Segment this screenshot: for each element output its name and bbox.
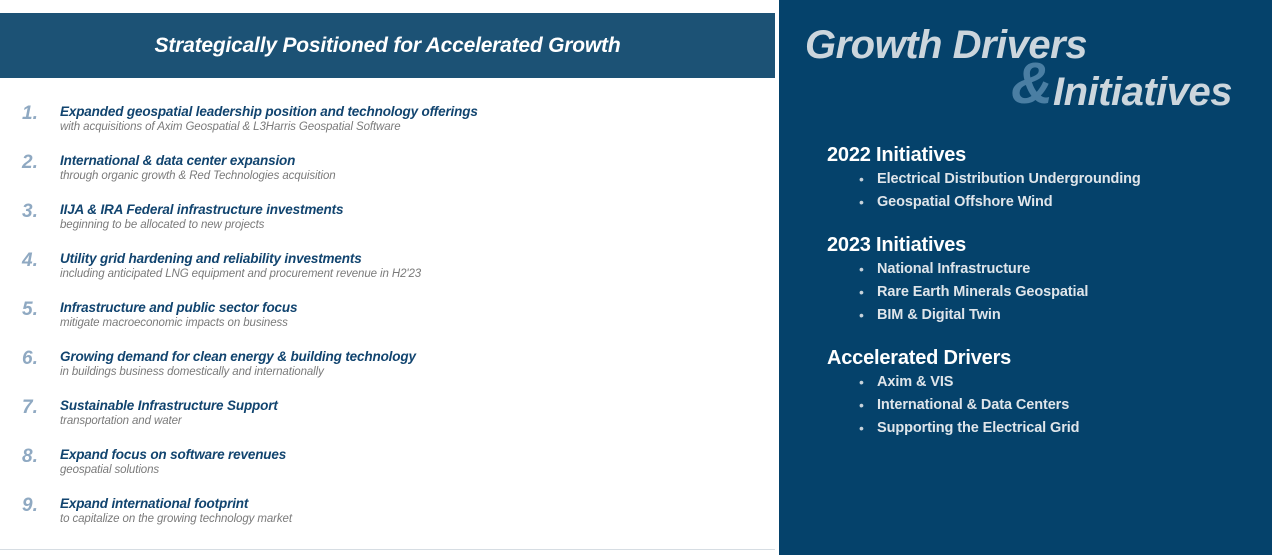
list-item-number: 5. bbox=[22, 299, 56, 321]
list-item-subtext: transportation and water bbox=[60, 414, 278, 429]
initiatives-sections: 2022 Initiatives • Electrical Distributi… bbox=[827, 142, 1257, 458]
section-accelerated-drivers: Accelerated Drivers • Axim & VIS • Inter… bbox=[827, 345, 1257, 440]
list-item-body: International & data center expansion th… bbox=[60, 152, 336, 184]
list-item-body: Infrastructure and public sector focus m… bbox=[60, 299, 297, 331]
ampersand-glyph: & bbox=[1011, 55, 1053, 113]
list-item-body: Expand focus on software revenues geospa… bbox=[60, 446, 286, 478]
bullet-item: • International & Data Centers bbox=[827, 394, 1257, 417]
bullet-label: Electrical Distribution Undergrounding bbox=[877, 168, 1141, 191]
list-item-number: 1. bbox=[22, 103, 56, 125]
bullet-dot-icon: • bbox=[859, 371, 877, 394]
list-item-subtext: with acquisitions of Axim Geospatial & L… bbox=[60, 120, 478, 135]
section-2023-initiatives: 2023 Initiatives • National Infrastructu… bbox=[827, 232, 1257, 327]
list-item-subtext: including anticipated LNG equipment and … bbox=[60, 267, 421, 282]
list-item-body: Sustainable Infrastructure Support trans… bbox=[60, 397, 278, 429]
list-item-body: Growing demand for clean energy & buildi… bbox=[60, 348, 416, 380]
section-heading: 2023 Initiatives bbox=[827, 232, 1257, 258]
slide-title-bar: Strategically Positioned for Accelerated… bbox=[0, 13, 775, 78]
bullet-dot-icon: • bbox=[859, 394, 877, 417]
list-item-subtext: beginning to be allocated to new project… bbox=[60, 218, 343, 233]
list-item-number: 9. bbox=[22, 495, 56, 517]
bullet-label: Geospatial Offshore Wind bbox=[877, 191, 1053, 214]
list-item-subtext: geospatial solutions bbox=[60, 463, 286, 478]
right-panel: Growth Drivers & Initiatives 2022 Initia… bbox=[779, 0, 1272, 555]
right-panel-title-line2: Initiatives bbox=[1053, 69, 1232, 115]
list-item-headline: Utility grid hardening and reliability i… bbox=[60, 250, 421, 267]
list-item: 7. Sustainable Infrastructure Support tr… bbox=[22, 397, 752, 446]
list-item: 9. Expand international footprint to cap… bbox=[22, 495, 752, 544]
slide-title: Strategically Positioned for Accelerated… bbox=[155, 34, 621, 58]
bullet-dot-icon: • bbox=[859, 191, 877, 214]
section-2022-initiatives: 2022 Initiatives • Electrical Distributi… bbox=[827, 142, 1257, 214]
list-item-body: Utility grid hardening and reliability i… bbox=[60, 250, 421, 282]
list-item-subtext: mitigate macroeconomic impacts on busine… bbox=[60, 316, 297, 331]
section-heading: Accelerated Drivers bbox=[827, 345, 1257, 371]
list-item: 8. Expand focus on software revenues geo… bbox=[22, 446, 752, 495]
bullet-dot-icon: • bbox=[859, 304, 877, 327]
bullet-item: • Axim & VIS bbox=[827, 371, 1257, 394]
list-item-headline: International & data center expansion bbox=[60, 152, 336, 169]
list-item-headline: Growing demand for clean energy & buildi… bbox=[60, 348, 416, 365]
list-item: 6. Growing demand for clean energy & bui… bbox=[22, 348, 752, 397]
list-item-headline: Expand focus on software revenues bbox=[60, 446, 286, 463]
bullet-dot-icon: • bbox=[859, 258, 877, 281]
slide-root: Strategically Positioned for Accelerated… bbox=[0, 0, 1272, 555]
list-item-headline: IIJA & IRA Federal infrastructure invest… bbox=[60, 201, 343, 218]
bullet-label: National Infrastructure bbox=[877, 258, 1030, 281]
bullet-dot-icon: • bbox=[859, 417, 877, 440]
bullet-label: Supporting the Electrical Grid bbox=[877, 417, 1079, 440]
right-panel-title: Growth Drivers & Initiatives bbox=[805, 22, 1255, 127]
list-item-subtext: to capitalize on the growing technology … bbox=[60, 512, 292, 527]
list-item: 3. IIJA & IRA Federal infrastructure inv… bbox=[22, 201, 752, 250]
bullet-label: BIM & Digital Twin bbox=[877, 304, 1001, 327]
list-item-number: 4. bbox=[22, 250, 56, 272]
list-item-body: Expanded geospatial leadership position … bbox=[60, 103, 478, 135]
bullet-item: • Rare Earth Minerals Geospatial bbox=[827, 281, 1257, 304]
list-item: 2. International & data center expansion… bbox=[22, 152, 752, 201]
list-item-body: Expand international footprint to capita… bbox=[60, 495, 292, 527]
list-item-headline: Expanded geospatial leadership position … bbox=[60, 103, 478, 120]
list-item-subtext: in buildings business domestically and i… bbox=[60, 365, 416, 380]
left-panel: Strategically Positioned for Accelerated… bbox=[0, 0, 779, 555]
bullet-label: International & Data Centers bbox=[877, 394, 1069, 417]
list-item-number: 2. bbox=[22, 152, 56, 174]
list-item-number: 3. bbox=[22, 201, 56, 223]
bullet-label: Axim & VIS bbox=[877, 371, 953, 394]
list-item: 5. Infrastructure and public sector focu… bbox=[22, 299, 752, 348]
list-item-headline: Expand international footprint bbox=[60, 495, 292, 512]
list-item-number: 8. bbox=[22, 446, 56, 468]
growth-drivers-numbered-list: 1. Expanded geospatial leadership positi… bbox=[22, 103, 752, 544]
bullet-label: Rare Earth Minerals Geospatial bbox=[877, 281, 1088, 304]
list-item-body: IIJA & IRA Federal infrastructure invest… bbox=[60, 201, 343, 233]
list-item-headline: Infrastructure and public sector focus bbox=[60, 299, 297, 316]
bottom-divider bbox=[0, 549, 775, 550]
list-item: 4. Utility grid hardening and reliabilit… bbox=[22, 250, 752, 299]
bullet-item: • Geospatial Offshore Wind bbox=[827, 191, 1257, 214]
list-item: 1. Expanded geospatial leadership positi… bbox=[22, 103, 752, 152]
bullet-item: • BIM & Digital Twin bbox=[827, 304, 1257, 327]
bullet-item: • Supporting the Electrical Grid bbox=[827, 417, 1257, 440]
bullet-item: • National Infrastructure bbox=[827, 258, 1257, 281]
bullet-item: • Electrical Distribution Undergrounding bbox=[827, 168, 1257, 191]
bullet-dot-icon: • bbox=[859, 281, 877, 304]
list-item-subtext: through organic growth & Red Technologie… bbox=[60, 169, 336, 184]
bullet-dot-icon: • bbox=[859, 168, 877, 191]
list-item-number: 7. bbox=[22, 397, 56, 419]
section-heading: 2022 Initiatives bbox=[827, 142, 1257, 168]
list-item-number: 6. bbox=[22, 348, 56, 370]
list-item-headline: Sustainable Infrastructure Support bbox=[60, 397, 278, 414]
